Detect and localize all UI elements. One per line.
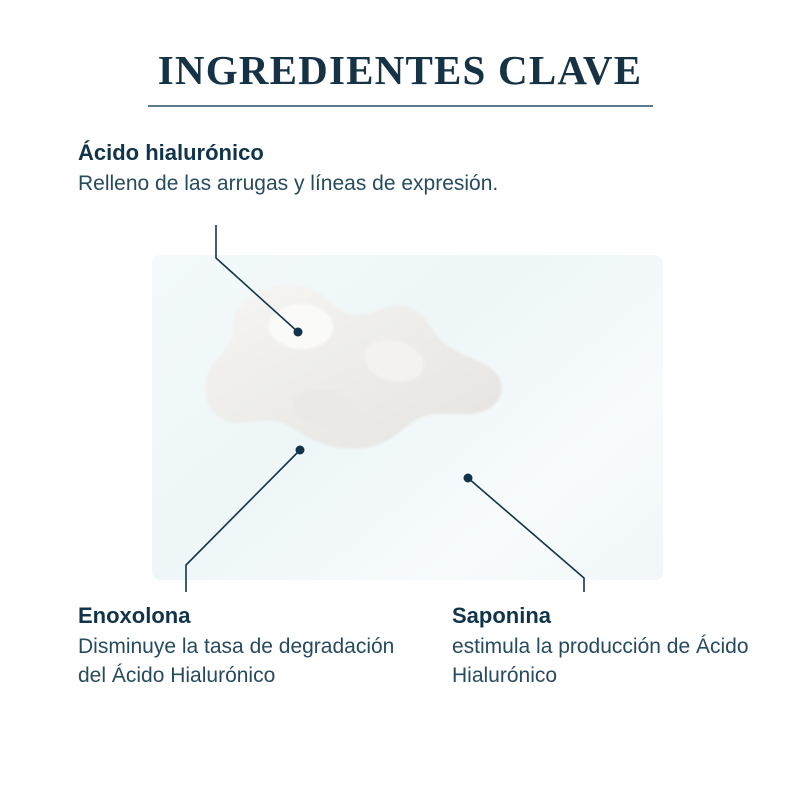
page-title: INGREDIENTES CLAVE — [0, 48, 800, 93]
title-block: INGREDIENTES CLAVE — [0, 48, 800, 107]
callout-bottom-right-heading: Saponina — [452, 603, 752, 629]
callout-top-body: Relleno de las arrugas y líneas de expre… — [78, 170, 738, 198]
callout-bottom-right-body: estimula la producción de Ácido Hialurón… — [452, 633, 752, 689]
callout-enoxolona: Enoxolona Disminuye la tasa de degradaci… — [78, 603, 398, 690]
ingredients-infographic: INGREDIENTES CLAVE — [0, 0, 800, 800]
callout-bottom-left-body: Disminuye la tasa de degradación del Áci… — [78, 633, 398, 689]
cream-swatch-icon — [178, 273, 538, 483]
title-underline-rule — [148, 105, 653, 107]
callout-saponina: Saponina estimula la producción de Ácido… — [452, 603, 752, 690]
callout-acido-hialuronico: Ácido hialurónico Relleno de las arrugas… — [78, 140, 738, 199]
callout-bottom-left-heading: Enoxolona — [78, 603, 398, 629]
callout-top-heading: Ácido hialurónico — [78, 140, 738, 166]
product-image-panel — [152, 255, 663, 580]
